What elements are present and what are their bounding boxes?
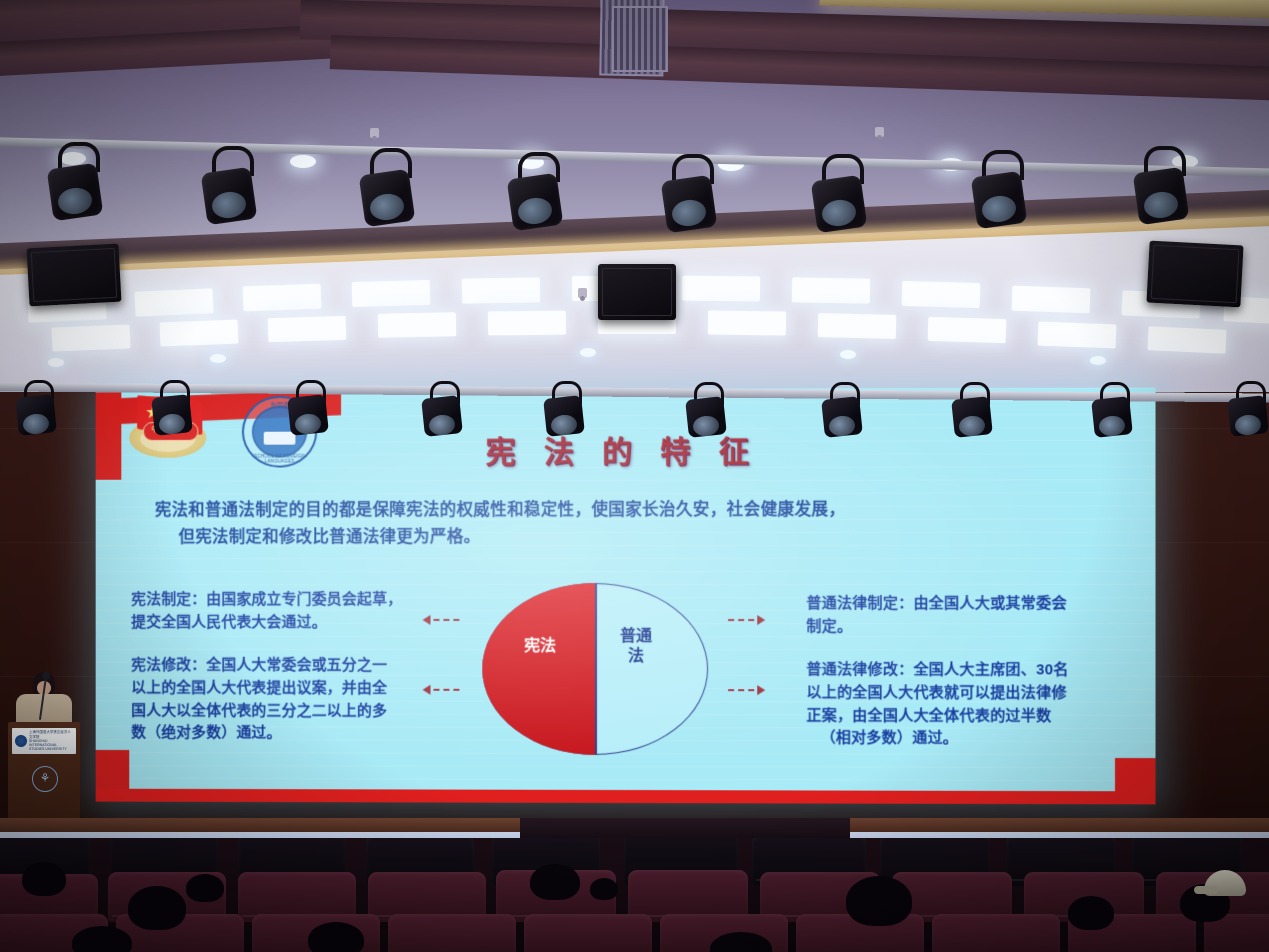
seat [388,914,516,952]
text-block-constitution-amendment: 宪法修改：全国人大常委会或五分之一 以上的全国人大代表提出议案，并由全 国人大以… [131,655,518,746]
panel-light [818,313,897,339]
panel-light [928,317,1007,343]
downlight [210,354,226,363]
lectern: 上海外国语大学贤达经济人文学院 SHANGHAI INTERNATIONAL S… [8,722,80,832]
panel-light [243,284,322,312]
stage-spotlight-lower [686,394,726,440]
stage-spotlight-lower [16,392,56,438]
block-line: 普通法律修改：全国人大主席团、30名 [806,659,1155,682]
block-line: 正案，由全国人大全体代表的过半数 [806,705,1155,728]
panel-light [1012,286,1091,314]
seat [932,914,1060,952]
panel-light [160,320,239,347]
ellipse-divider [595,583,596,755]
stage-spotlight-lower [1092,394,1132,440]
panel-light [462,277,540,303]
air-vent-grille [612,6,668,72]
panel-light [268,316,347,342]
audience-head [128,886,186,930]
slide-red-corner [1115,758,1156,804]
sign-line-1: 上海外国语大学贤达经济人文学院 [29,730,73,739]
ellipse-left-half [482,583,595,755]
audience-head [72,926,132,952]
stage-spotlight [48,158,102,224]
panel-light [708,310,786,335]
sprinkler-head [578,288,587,298]
panel-light [1147,326,1226,354]
lectern-crest-icon: ⚘ [32,766,58,792]
stage-spotlight [508,168,562,234]
stage-spotlight-lower [952,394,992,440]
stage-spotlight [202,162,256,228]
audience-head [530,864,580,900]
slide-intro-paragraph: 宪法和普通法制定的目的都是保障宪法的权威性和稳定性，使国家长治久安，社会健康发展… [155,496,1105,551]
stage-spotlight-lower [822,394,862,440]
audience-head [590,878,618,900]
auditorium-photo: ★ 中国共青团 外国语 SCHOOL OF FOREIGN LANGUAGES … [0,0,1269,952]
audience-head [22,862,66,896]
ellipse-label-ordinary-law: 普通法 [618,627,654,667]
downlight [290,155,316,168]
lectern-sign: 上海外国语大学贤达经济人文学院 SHANGHAI INTERNATIONAL S… [12,728,76,754]
stage-spotlight-lower [288,392,328,438]
stage-spotlight [662,170,716,236]
hanging-speaker [598,264,676,320]
block-line: 以上的全国人大代表就可以提出法律修 [806,682,1155,705]
split-ellipse-diagram: 宪法 普通法 [482,583,708,755]
slide-title: 宪 法 的 特 征 [96,426,1156,472]
intro-line-1: 宪法和普通法制定的目的都是保障宪法的权威性和稳定性，使国家长治久安，社会健康发展… [155,496,1105,524]
panel-light [52,324,131,351]
slide: ★ 中国共青团 外国语 SCHOOL OF FOREIGN LANGUAGES … [96,388,1156,805]
dashed-arrow-right-lower [728,685,765,695]
stage-spotlight [1134,162,1188,228]
seat [524,914,652,952]
block-line: 宪法修改：全国人大常委会或五分之一 [131,655,518,678]
lighting-truss-upper [0,137,1269,179]
panel-light [488,311,566,336]
block-line: 宪法制定：由国家成立专门委员会起草， [131,589,518,612]
lectern-sign-text: 上海外国语大学贤达经济人文学院 SHANGHAI INTERNATIONAL S… [29,730,73,751]
block-line: 数（绝对多数）通过。 [131,723,518,746]
panel-light [352,280,431,307]
dashed-arrow-left-lower [423,685,460,695]
block-line: 以上的全国人大代表提出议案，并由全 [131,677,518,700]
university-emblem-icon [15,735,27,747]
downlight [48,358,64,367]
text-block-constitution-enactment: 宪法制定：由国家成立专门委员会起草， 提交全国人民代表大会通过。 [131,589,518,635]
audience-head [186,874,224,902]
dashed-arrow-right-upper [728,615,765,625]
block-line: 制定。 [806,616,1155,639]
stage-spotlight-lower [1228,393,1268,439]
panel-light [378,312,456,338]
projection-screen: ★ 中国共青团 外国语 SCHOOL OF FOREIGN LANGUAGES … [96,388,1156,805]
block-line: （相对多数）通过。 [806,728,1155,752]
downlight [840,350,856,359]
panel-light [134,288,213,316]
stage-spotlight-lower [422,393,462,439]
stage-spotlight-lower [152,392,192,438]
downlight [580,348,596,357]
text-block-ordinary-law-enactment: 普通法律制定：由全国人大或其常委会 制定。 [806,593,1155,639]
intro-line-2: 但宪法制定和修改比普通法律更为严格。 [155,524,1105,552]
block-line: 提交全国人民代表大会通过。 [131,612,518,635]
dashed-arrow-left-upper [423,615,460,625]
audience-head [1068,896,1114,930]
audience-head [308,922,364,952]
panel-light [902,281,981,308]
audience-seating [0,838,1269,952]
block-line: 国人大以全体代表的三分之二以上的多 [131,700,518,723]
panel-light [792,277,870,303]
sprinkler-head [370,128,379,138]
text-block-ordinary-law-amendment: 普通法律修改：全国人大主席团、30名 以上的全国人大代表就可以提出法律修 正案，… [806,659,1155,751]
downlight [1090,356,1106,365]
sign-line-2: SHANGHAI INTERNATIONAL STUDIES UNIVERSIT… [29,739,73,752]
stage-spotlight [360,164,414,230]
hanging-speaker [27,244,122,307]
stage-spotlight [812,170,866,236]
stage-spotlight [972,166,1026,232]
audience-head [846,876,912,926]
stage-spotlight-lower [544,393,584,439]
ellipse-label-constitution: 宪法 [522,637,558,657]
block-line: 普通法律制定：由全国人大或其常委会 [806,593,1155,616]
panel-light [682,276,760,302]
hanging-speaker [1146,241,1243,308]
ceiling [0,0,1269,392]
sprinkler-head [875,127,884,137]
panel-light [1038,322,1117,349]
